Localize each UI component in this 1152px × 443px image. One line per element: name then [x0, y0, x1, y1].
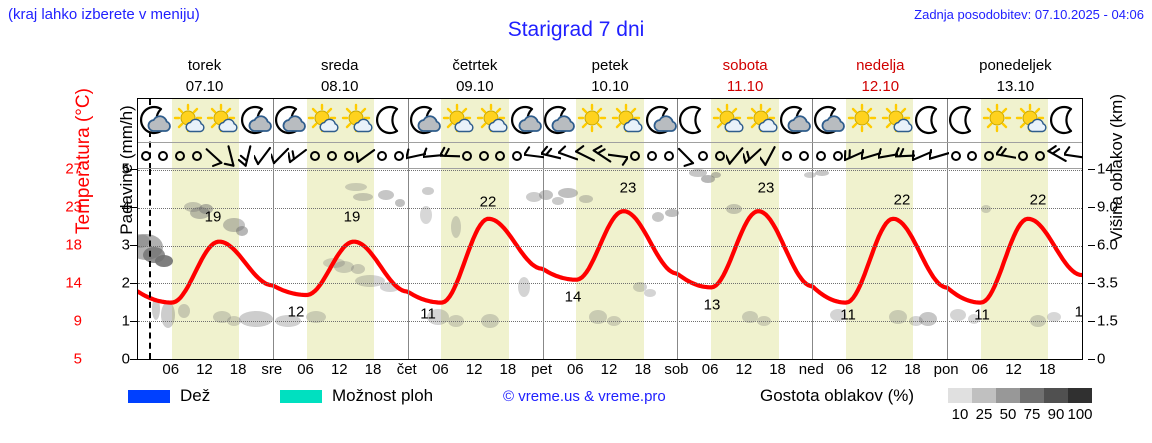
cloud-density-swatch-10 — [948, 388, 972, 403]
sun-cloud-icon — [204, 103, 240, 137]
time-axis-hour-label: 12 — [601, 361, 618, 378]
temperature-value-label: 11 — [840, 307, 856, 324]
day-header-7: ponedeljek13.10 — [948, 54, 1083, 98]
time-axis-hour-label: 18 — [500, 361, 517, 378]
precip-tickmark — [130, 169, 137, 170]
time-axis-hour-label: 12 — [331, 361, 348, 378]
cloud-tickmark — [1088, 283, 1095, 284]
temperature-value-label: 12 — [288, 304, 305, 321]
precip-tickmark — [130, 245, 137, 246]
cloud-tickmark — [1088, 169, 1095, 170]
sun-icon — [980, 103, 1016, 137]
sun-cloud-icon — [474, 103, 510, 137]
cloud-tick-14: 14 — [1097, 161, 1114, 178]
cloud-tickmark — [1088, 321, 1095, 322]
graph-area: 111912191122142313231122112213 — [138, 169, 1082, 359]
cloud-density-tick-75: 75 — [1024, 406, 1041, 423]
meteogram-plot[interactable]: 111912191122142313231122112213 — [137, 98, 1083, 360]
sun-cloud-icon — [879, 103, 915, 137]
temperature-value-label: 19 — [344, 209, 361, 226]
time-axis-day-label: sob — [664, 361, 688, 378]
time-axis-hour-label: 06 — [837, 361, 854, 378]
cloud-density-tick-90: 90 — [1048, 406, 1065, 423]
day-name: torek — [137, 55, 272, 76]
precip-tick-0: 0 — [122, 351, 130, 368]
moon-cloud-icon — [272, 103, 308, 137]
precip-tick-2: 2 — [122, 275, 130, 292]
day-name: sobota — [678, 55, 813, 76]
sun-cloud-icon — [339, 103, 375, 137]
day-header-6: nedelja12.10 — [813, 54, 948, 98]
day-date: 12.10 — [813, 76, 948, 97]
precip-tick-3: 3 — [122, 237, 130, 254]
temperature-value-label: 11 — [974, 307, 990, 324]
rain-legend-label: Dež — [180, 386, 210, 406]
moon-icon — [676, 103, 712, 137]
time-axis-hour-label: 06 — [972, 361, 989, 378]
moon-cloud-icon — [407, 103, 443, 137]
time-axis-hour-label: 06 — [162, 361, 179, 378]
cloud-density-scale-labels: 1025507590100 — [948, 406, 1092, 424]
sun-cloud-icon — [744, 103, 780, 137]
sun-icon — [845, 103, 881, 137]
precip-tickmark — [130, 207, 137, 208]
day-name: ponedeljek — [948, 55, 1083, 76]
cloud-density-swatch-25 — [972, 388, 996, 403]
cloud-density-tick-50: 50 — [1000, 406, 1017, 423]
showers-legend-swatch — [280, 390, 322, 403]
temperature-value-label: 14 — [565, 289, 582, 306]
time-axis-hour-label: 18 — [230, 361, 247, 378]
temp-tick-5: 5 — [74, 351, 82, 368]
day-date: 09.10 — [407, 76, 542, 97]
cloud-density-tick-10: 10 — [952, 406, 969, 423]
day-header-3: četrtek09.10 — [407, 54, 542, 98]
time-axis-hour-label: 06 — [702, 361, 719, 378]
temperature-axis-ticks: 2723181495 — [48, 98, 82, 360]
temp-tick-18: 18 — [65, 237, 82, 254]
moon-cloud-icon — [137, 103, 173, 137]
cloud-density-colorbar — [948, 388, 1092, 403]
day-header-1: torek07.10 — [137, 54, 272, 98]
moon-cloud-icon — [643, 103, 679, 137]
temperature-value-label: 23 — [620, 180, 637, 197]
horizontal-gridline — [138, 359, 1082, 360]
cloud-tick-9.0: 9.0 — [1097, 199, 1118, 216]
cloud-density-swatch-100 — [1068, 388, 1092, 403]
day-name: četrtek — [407, 55, 542, 76]
temperature-value-label: 11 — [420, 306, 436, 323]
cloud-density-title: Gostota oblakov (%) — [760, 386, 914, 406]
day-header-row: torek07.10sreda08.10četrtek09.10petek10.… — [137, 54, 1083, 98]
cloud-tick-6.0: 6.0 — [1097, 237, 1118, 254]
cloud-tickmark — [1088, 207, 1095, 208]
temp-tick-9: 9 — [74, 313, 82, 330]
precip-tick-5: 5 — [122, 161, 130, 178]
day-header-4: petek10.10 — [542, 54, 677, 98]
temperature-value-label: 22 — [894, 192, 911, 209]
moon-icon — [946, 103, 982, 137]
temperature-value-label: 22 — [480, 194, 497, 211]
temperature-value-label: 13 — [1075, 304, 1083, 321]
day-name: sreda — [272, 55, 407, 76]
time-axis-day-label: pet — [531, 361, 552, 378]
day-name: petek — [542, 55, 677, 76]
sun-cloud-icon — [171, 103, 207, 137]
temperature-value-label: 19 — [205, 209, 222, 226]
temperature-value-label: 13 — [704, 297, 721, 314]
time-axis-day-label: čet — [397, 361, 417, 378]
time-axis-hour-label: 18 — [904, 361, 921, 378]
meteogram-page: (kraj lahko izberete v meniju) Starigrad… — [0, 0, 1152, 443]
showers-legend-label: Možnost ploh — [332, 386, 433, 406]
moon-icon — [1047, 103, 1083, 137]
time-axis-hour-label: 12 — [1005, 361, 1022, 378]
time-axis-day-label: sre — [261, 361, 282, 378]
temperature-point-labels: 111912191122142313231122112213 — [138, 169, 1082, 359]
precip-tickmark — [130, 321, 137, 322]
last-update-label: Zadnja posodobitev: 07.10.2025 - 04:06 — [914, 7, 1144, 22]
day-header-2: sreda08.10 — [272, 54, 407, 98]
day-date: 07.10 — [137, 76, 272, 97]
time-axis-hour-label: 06 — [297, 361, 314, 378]
wind-barbs-row — [138, 143, 1082, 169]
temp-tick-27: 27 — [65, 161, 82, 178]
time-axis-hour-label: 18 — [1039, 361, 1056, 378]
day-date: 10.10 — [542, 76, 677, 97]
cloud-density-swatch-75 — [1020, 388, 1044, 403]
moon-cloud-icon — [777, 103, 813, 137]
cloud-tickmark — [1088, 245, 1095, 246]
credit-link[interactable]: © vreme.us & vreme.pro — [503, 388, 666, 405]
precip-tickmark — [130, 283, 137, 284]
moon-icon — [373, 103, 409, 137]
time-axis-hour-label: 06 — [432, 361, 449, 378]
moon-cloud-icon — [541, 103, 577, 137]
day-date: 13.10 — [948, 76, 1083, 97]
time-axis-hour-label: 06 — [567, 361, 584, 378]
cloud-density-swatch-90 — [1044, 388, 1068, 403]
temp-tick-14: 14 — [65, 275, 82, 292]
day-name: nedelja — [813, 55, 948, 76]
cloud-tickmark — [1088, 359, 1095, 360]
moon-cloud-icon — [811, 103, 847, 137]
cloud-height-axis-ticks: 149.06.03.51.50 — [1088, 98, 1128, 360]
legend: Dež Možnost ploh © vreme.us & vreme.pro … — [0, 386, 1152, 436]
sun-cloud-icon — [305, 103, 341, 137]
sun-cloud-icon — [1013, 103, 1049, 137]
precip-tickmark — [130, 359, 137, 360]
moon-icon — [912, 103, 948, 137]
day-date: 11.10 — [678, 76, 813, 97]
temperature-value-label: 23 — [758, 180, 775, 197]
time-axis: 061218sre061218čet061218pet061218sob0612… — [137, 361, 1083, 383]
sun-cloud-icon — [440, 103, 476, 137]
time-axis-hour-label: 18 — [365, 361, 382, 378]
cloud-tick-0: 0 — [1097, 351, 1105, 368]
cloud-density-tick-100: 100 — [1067, 406, 1092, 423]
weather-icons-row — [138, 99, 1082, 143]
day-header-5: sobota11.10 — [678, 54, 813, 98]
time-axis-day-label: pon — [934, 361, 959, 378]
cloud-density-swatch-50 — [996, 388, 1020, 403]
precipitation-axis-ticks: 543210 — [104, 98, 130, 360]
day-date: 08.10 — [272, 76, 407, 97]
temp-tick-23: 23 — [65, 199, 82, 216]
rain-legend-swatch — [128, 390, 170, 403]
sun-cloud-icon — [609, 103, 645, 137]
time-axis-hour-label: 12 — [736, 361, 753, 378]
cloud-tick-3.5: 3.5 — [1097, 275, 1118, 292]
cloud-density-tick-25: 25 — [976, 406, 993, 423]
precip-tick-4: 4 — [122, 199, 130, 216]
time-axis-hour-label: 12 — [466, 361, 483, 378]
precip-tick-1: 1 — [122, 313, 130, 330]
moon-cloud-icon — [238, 103, 274, 137]
moon-cloud-icon — [508, 103, 544, 137]
cloud-tick-1.5: 1.5 — [1097, 313, 1118, 330]
temperature-value-label: 22 — [1030, 192, 1047, 209]
time-axis-hour-label: 12 — [870, 361, 887, 378]
time-axis-hour-label: 12 — [196, 361, 213, 378]
time-axis-hour-label: 18 — [634, 361, 651, 378]
time-axis-day-label: ned — [799, 361, 824, 378]
sun-icon — [575, 103, 611, 137]
sun-cloud-icon — [710, 103, 746, 137]
wind-barb-icon — [1064, 144, 1083, 168]
time-axis-hour-label: 18 — [769, 361, 786, 378]
